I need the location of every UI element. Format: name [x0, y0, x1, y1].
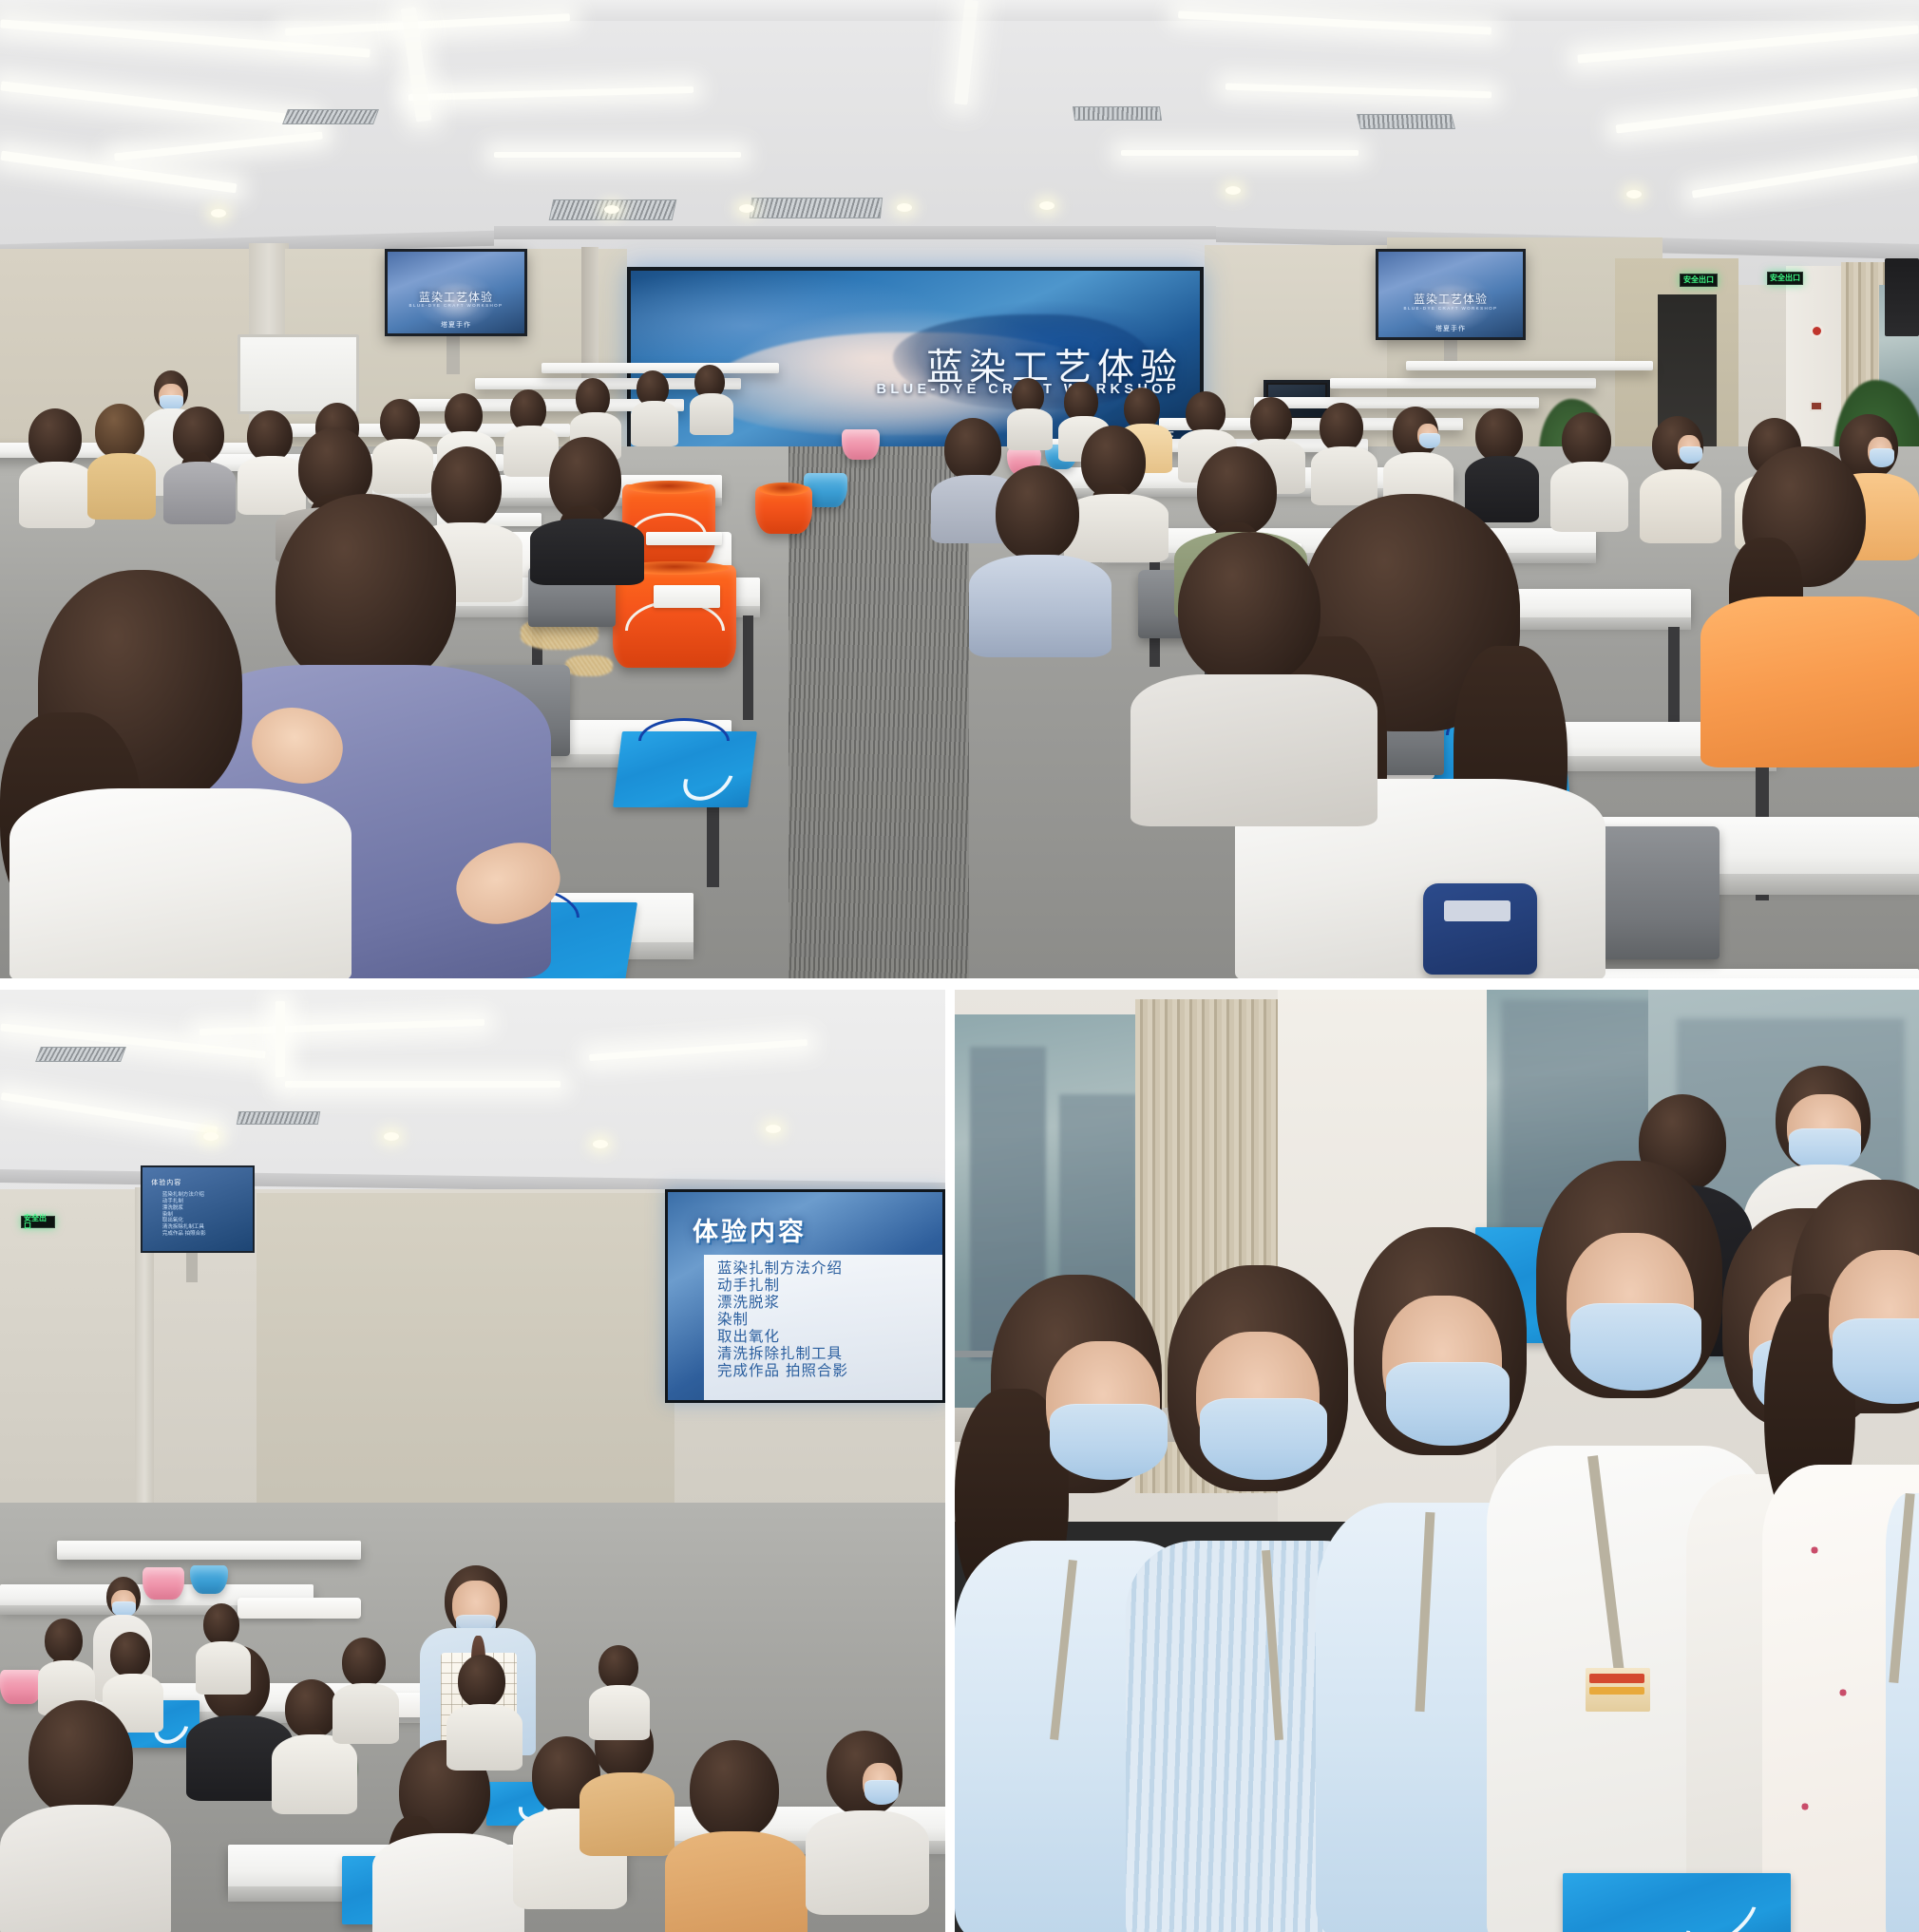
slide-item: 漂洗脱浆 — [717, 1295, 937, 1312]
backpack — [1423, 883, 1537, 975]
slide-item: 取出氧化 — [717, 1329, 937, 1346]
ceiling-spotlight — [897, 203, 912, 212]
ceiling-spotlight — [593, 1140, 608, 1148]
ceiling-spotlight — [1225, 186, 1241, 195]
ceiling-soffit — [494, 226, 1216, 239]
slide-item: 清洗拆除扎制工具 — [717, 1346, 937, 1363]
torso — [690, 393, 733, 435]
attendee-seated — [1311, 403, 1377, 502]
attendee-seated — [38, 1619, 95, 1714]
attendee-seated — [690, 365, 733, 435]
ceiling-spotlight — [1626, 190, 1642, 199]
ceiling-speaker — [1885, 258, 1919, 336]
attendee-seated — [87, 404, 156, 518]
attendee-grey-top — [1130, 532, 1377, 817]
ceiling-light-strip — [275, 1001, 285, 1077]
attendee-orange-top — [1700, 446, 1919, 760]
ceiling-vent — [1357, 114, 1455, 129]
monitor-slide-heading: 体验内容 — [151, 1178, 181, 1187]
exit-sign-label: 安全出口 — [24, 1215, 52, 1230]
collage-panel-bottom-right — [955, 990, 1919, 1932]
torso — [0, 1805, 171, 1932]
head — [458, 1655, 505, 1708]
ceiling-spotlight — [766, 1125, 781, 1133]
head — [342, 1638, 386, 1687]
torso — [196, 1641, 251, 1695]
attendee-foreground — [0, 1700, 171, 1932]
face-mask — [1680, 446, 1702, 464]
collage-gutter-horizontal — [0, 978, 1919, 990]
torso — [446, 1704, 522, 1771]
collage-panel-top: 蓝染工艺体验 BLUE-DYE CRAFT WORKSHOP 塔夏手作 TAXI… — [0, 0, 1919, 978]
monitor-title-english: BLUE-DYE CRAFT WORKSHOP — [388, 303, 524, 308]
paper-stack — [654, 585, 720, 608]
torso — [19, 462, 95, 528]
fire-alarm-pull-station — [1810, 401, 1823, 411]
attendee-seated — [19, 408, 95, 522]
exit-sign-label: 安全出口 — [1683, 276, 1714, 284]
ceiling-spotlight — [1039, 201, 1054, 210]
head — [28, 408, 82, 467]
collage-panel-bottom-left: 安全出口 体验内容 蓝染扎制方法介绍 动手扎制 漂洗脱浆 染制 取出氧化 清洗拆… — [0, 990, 945, 1932]
paper-stack — [646, 532, 722, 545]
slide-item: 染制 — [717, 1312, 937, 1329]
tv-mount — [186, 1250, 198, 1282]
attendee-seated — [589, 1645, 650, 1738]
ceiling-vent — [237, 1111, 320, 1125]
monitor-title-chinese: 蓝染工艺体验 — [388, 289, 524, 305]
slide-item: 完成作品 拍照合影 — [717, 1363, 937, 1380]
head — [996, 465, 1079, 560]
monitor-slide-items: 蓝染扎制方法介绍 动手扎制 漂洗脱浆 染制 取出氧化 清洗拆除扎制工具 完成作品… — [162, 1192, 206, 1237]
gift-bag — [1563, 1873, 1791, 1932]
tv-mount — [446, 332, 460, 374]
ceiling-light-strip — [494, 152, 741, 158]
head — [1178, 532, 1320, 686]
attendee-foreground-female — [0, 570, 370, 978]
head — [690, 1740, 779, 1839]
attendee-foreground — [665, 1740, 807, 1932]
head — [110, 1632, 150, 1677]
agenda-led-screen: 体验内容 蓝染扎制方法介绍 动手扎制 漂洗脱浆 染制 取出氧化 清洗拆除扎制工具… — [665, 1189, 945, 1403]
ceiling-vent — [1073, 106, 1162, 121]
torso — [969, 555, 1111, 657]
attendee-seated — [969, 465, 1111, 655]
torso — [1700, 597, 1919, 767]
monitor-slide-item: 完成作品 拍照合影 — [162, 1231, 206, 1238]
backpack-stripe — [1444, 900, 1510, 921]
monitor-slide-item: 漂洗脱浆 — [162, 1205, 206, 1212]
torso — [87, 453, 156, 520]
wall-panel — [256, 1193, 674, 1516]
ceiling-vent — [750, 198, 883, 218]
head — [28, 1700, 133, 1816]
desk-leg — [743, 616, 753, 720]
wall-panel — [0, 1191, 142, 1514]
tie-dye-rope-bundle — [565, 655, 613, 676]
ceiling-slab — [0, 0, 1919, 21]
head — [95, 404, 144, 459]
dye-bucket-orange — [755, 486, 812, 534]
ceiling-spotlight — [203, 1132, 218, 1141]
desk — [1330, 378, 1596, 388]
torso — [1130, 674, 1377, 826]
exit-sign-label: 安全出口 — [1770, 275, 1800, 282]
exit-sign: 安全出口 — [1680, 274, 1718, 287]
collage-gutter-vertical — [945, 978, 955, 1932]
ceiling-vent — [35, 1047, 126, 1062]
head — [598, 1645, 638, 1689]
attendee-seated — [806, 1731, 929, 1911]
attendee-seated — [631, 370, 678, 446]
table-cloth — [237, 1598, 361, 1619]
side-monitor-right: 蓝染工艺体验 BLUE-DYE CRAFT WORKSHOP 塔夏手作 — [1376, 249, 1526, 340]
dye-bucket-blue — [190, 1565, 228, 1594]
slide-item: 动手扎制 — [717, 1278, 937, 1295]
exit-sign: 安全出口 — [21, 1216, 55, 1228]
dye-bucket-pink — [842, 429, 880, 460]
torso — [9, 788, 351, 978]
ceiling-spotlight — [211, 209, 226, 218]
torso — [372, 1833, 524, 1932]
head — [1562, 412, 1611, 467]
attendee-6 — [1762, 1180, 1919, 1932]
torso — [579, 1772, 674, 1856]
badge-stripe — [1589, 1687, 1644, 1695]
face-mask — [1570, 1303, 1701, 1391]
monitor-title-english: BLUE-DYE CRAFT WORKSHOP — [1378, 306, 1523, 311]
dye-bucket-pink — [0, 1670, 42, 1704]
head — [1320, 403, 1363, 452]
torso — [806, 1810, 929, 1915]
ceiling-light-strip — [285, 1081, 560, 1088]
torso — [332, 1683, 399, 1744]
photo-collage: 蓝染工艺体验 BLUE-DYE CRAFT WORKSHOP 塔夏手作 TAXI… — [0, 0, 1919, 1932]
slide-item: 蓝染扎制方法介绍 — [717, 1260, 937, 1278]
ceiling-spotlight — [604, 205, 619, 214]
face-mask — [864, 1780, 899, 1805]
torso — [589, 1685, 650, 1740]
slide-heading: 体验内容 — [693, 1211, 807, 1248]
head — [1250, 397, 1292, 445]
head — [203, 1603, 239, 1645]
monitor-title-chinese: 蓝染工艺体验 — [1378, 291, 1523, 307]
badge-stripe — [1589, 1674, 1644, 1683]
monitor-logo: 塔夏手作 — [1378, 324, 1523, 333]
face-mask — [1200, 1398, 1327, 1480]
monitor-logo: 塔夏手作 — [388, 320, 524, 330]
ceiling-spotlight — [739, 204, 754, 213]
torso — [665, 1831, 807, 1932]
attendee-seated — [446, 1655, 522, 1769]
fire-alarm-strobe — [1813, 327, 1821, 335]
side-monitor: 体验内容 蓝染扎制方法介绍 动手扎制 漂洗脱浆 染制 取出氧化 清洗拆除扎制工具… — [141, 1165, 255, 1253]
desk — [1406, 361, 1653, 370]
slide-item-list: 蓝染扎制方法介绍 动手扎制 漂洗脱浆 染制 取出氧化 清洗拆除扎制工具 完成作品… — [717, 1260, 937, 1380]
monitor-slide-item: 动手扎制 — [162, 1199, 206, 1205]
desk — [57, 1541, 361, 1560]
hand — [244, 699, 351, 793]
ceiling-light-strip — [1121, 150, 1358, 156]
monitor-slide-item: 清洗拆除扎制工具 — [162, 1224, 206, 1231]
monitor-slide-item: 取出氧化 — [162, 1218, 206, 1224]
face-mask — [1419, 433, 1440, 448]
attendee-seated — [196, 1603, 251, 1695]
attendee-seated — [332, 1638, 399, 1742]
torso — [272, 1734, 357, 1814]
ceiling-spotlight — [384, 1132, 399, 1141]
head — [1475, 408, 1523, 462]
gift-bag — [613, 731, 757, 807]
side-monitor-left: 蓝染工艺体验 BLUE-DYE CRAFT WORKSHOP 塔夏手作 — [385, 249, 527, 336]
ceiling-vent — [282, 109, 379, 124]
exit-sign: 安全出口 — [1767, 272, 1803, 285]
